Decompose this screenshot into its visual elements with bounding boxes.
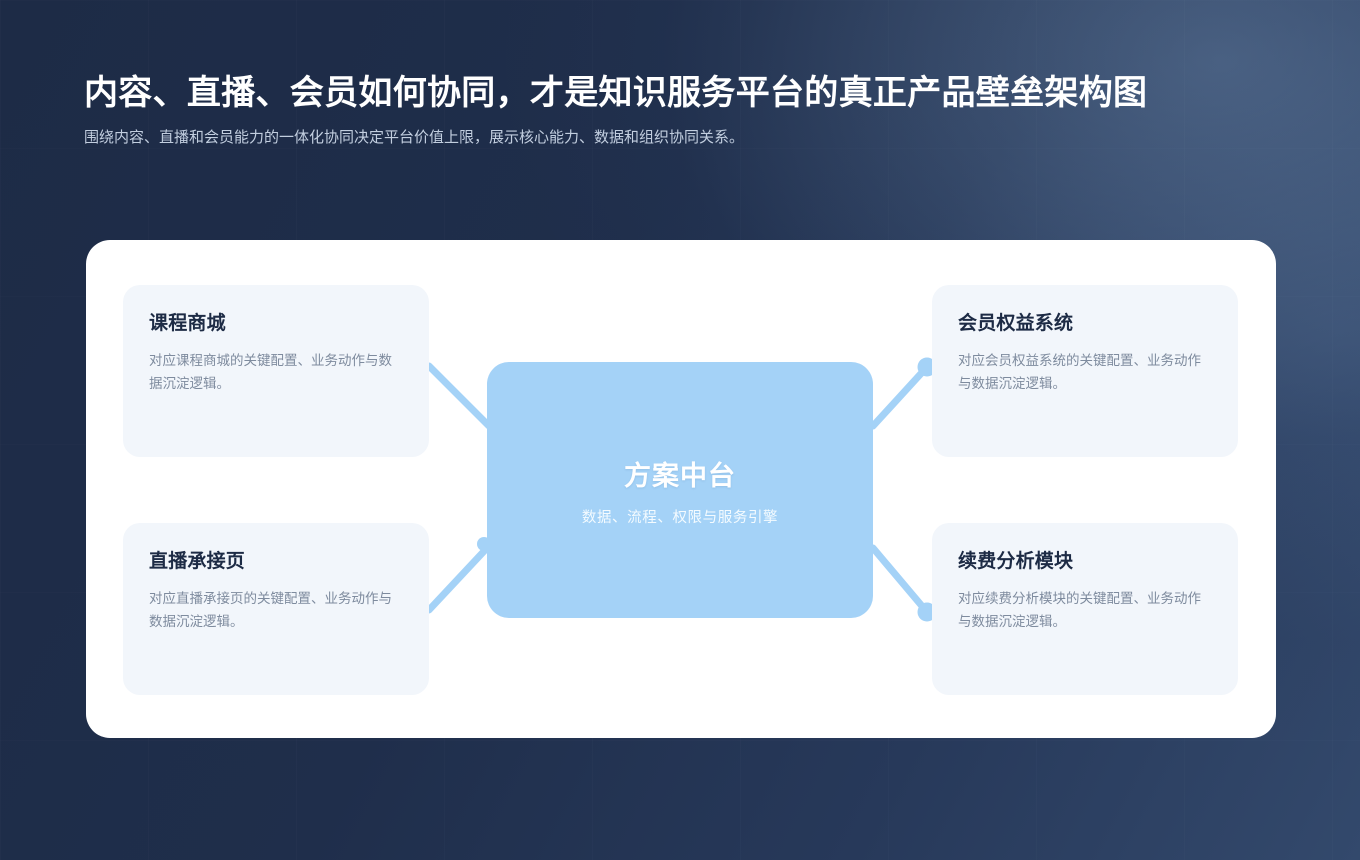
header: 内容、直播、会员如何协同，才是知识服务平台的真正产品壁垒架构图 围绕内容、直播和… [84, 72, 1340, 150]
page-title: 内容、直播、会员如何协同，才是知识服务平台的真正产品壁垒架构图 [84, 72, 1340, 115]
node-description: 对应会员权益系统的关键配置、业务动作与数据沉淀逻辑。 [958, 349, 1212, 395]
node-title: 续费分析模块 [958, 551, 1212, 574]
center-node-subtitle: 数据、流程、权限与服务引擎 [582, 506, 778, 527]
node-description: 对应课程商城的关键配置、业务动作与数据沉淀逻辑。 [149, 349, 403, 395]
node-title: 直播承接页 [149, 551, 403, 574]
node-card-course-mall[interactable]: 课程商城 对应课程商城的关键配置、业务动作与数据沉淀逻辑。 [123, 285, 429, 457]
connector-line-top-left [429, 366, 489, 426]
node-card-renewal-analysis[interactable]: 续费分析模块 对应续费分析模块的关键配置、业务动作与数据沉淀逻辑。 [932, 523, 1238, 695]
node-card-member-benefits[interactable]: 会员权益系统 对应会员权益系统的关键配置、业务动作与数据沉淀逻辑。 [932, 285, 1238, 457]
center-node-title: 方案中台 [624, 454, 736, 493]
node-title: 会员权益系统 [958, 313, 1212, 336]
node-title: 课程商城 [149, 313, 403, 336]
node-description: 对应直播承接页的关键配置、业务动作与数据沉淀逻辑。 [149, 587, 403, 633]
connector-line-top-right [873, 367, 927, 426]
node-description: 对应续费分析模块的关键配置、业务动作与数据沉淀逻辑。 [958, 587, 1212, 633]
diagram-panel: 课程商城 对应课程商城的关键配置、业务动作与数据沉淀逻辑。 直播承接页 对应直播… [86, 240, 1276, 738]
center-node-solution-hub[interactable]: 方案中台 数据、流程、权限与服务引擎 [487, 362, 873, 618]
connector-line-bottom-left [429, 548, 487, 610]
connector-line-bottom-right [873, 548, 927, 612]
node-card-live-landing[interactable]: 直播承接页 对应直播承接页的关键配置、业务动作与数据沉淀逻辑。 [123, 523, 429, 695]
page-subtitle: 围绕内容、直播和会员能力的一体化协同决定平台价值上限，展示核心能力、数据和组织协… [84, 126, 844, 150]
